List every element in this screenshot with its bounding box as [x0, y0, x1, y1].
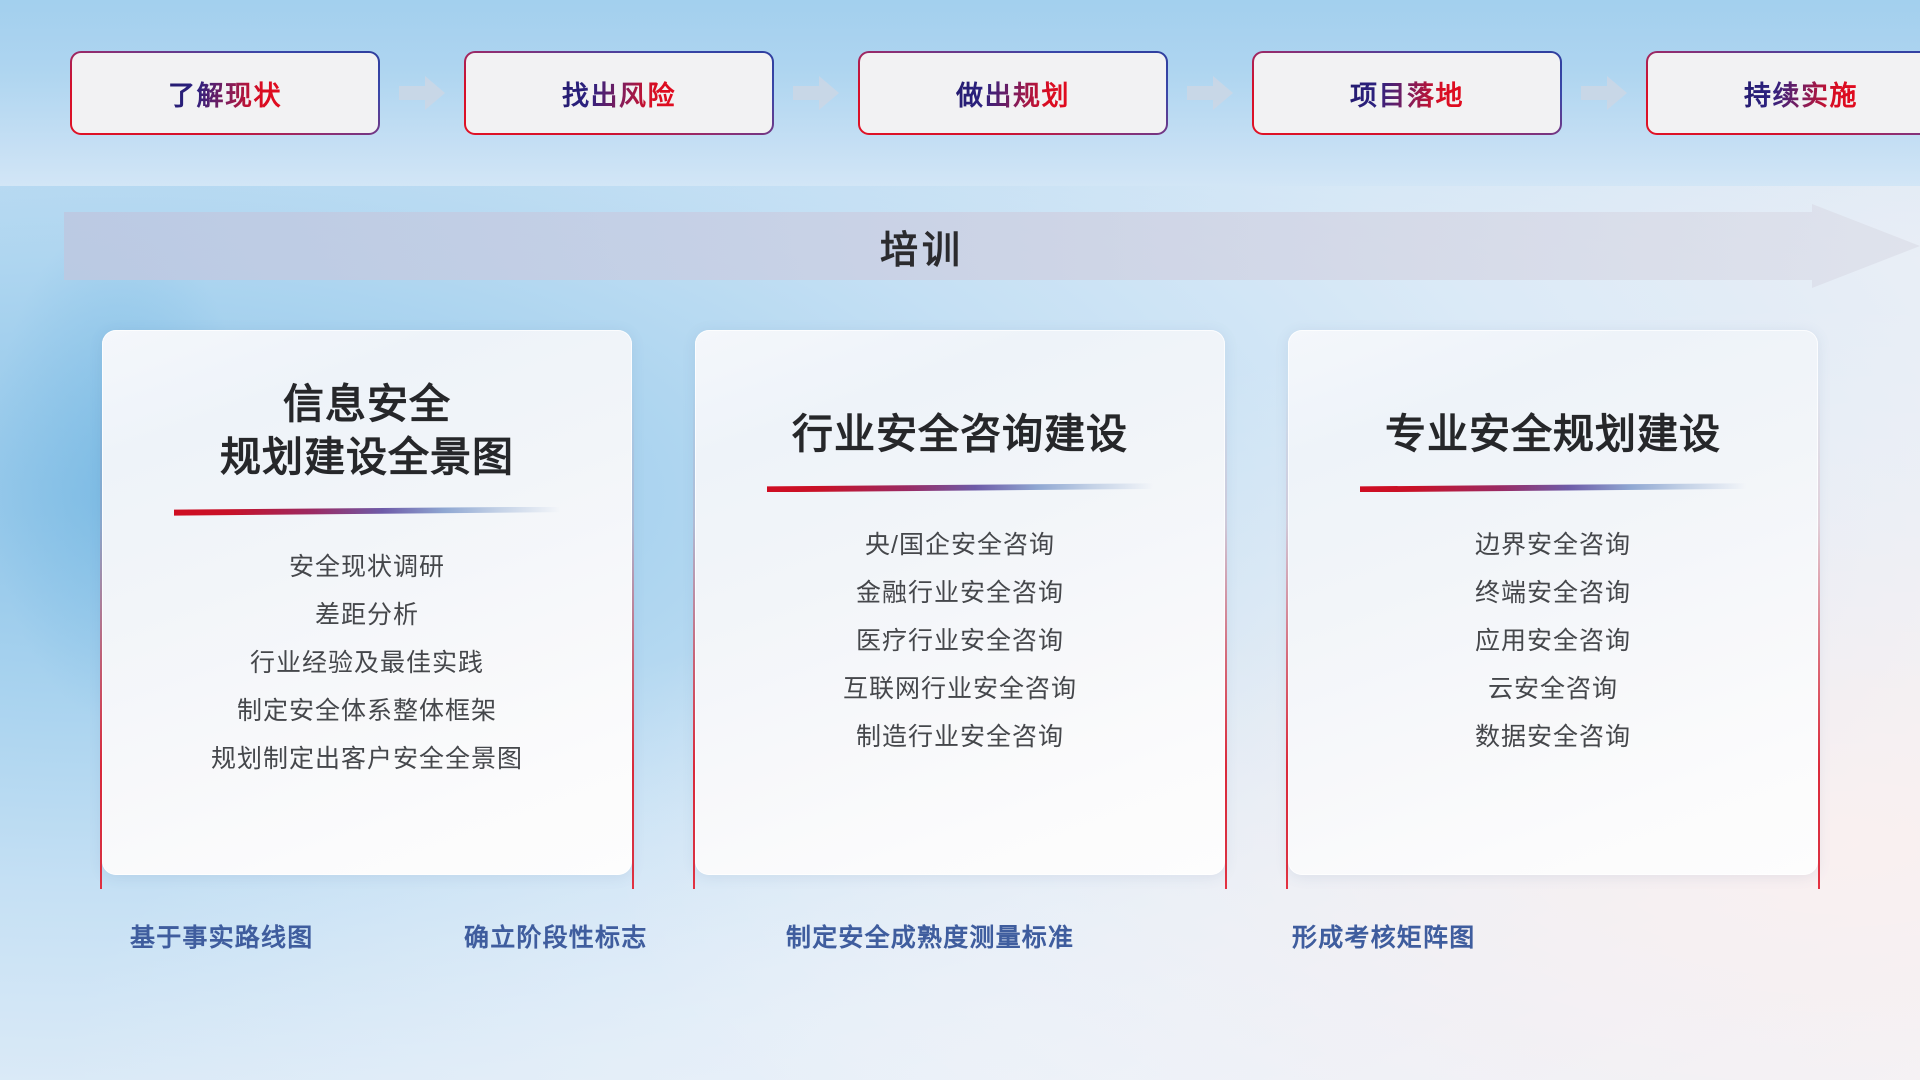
- arrow-right-icon: [1187, 76, 1233, 110]
- process-flow-row: 了解现状 找出风险 做出规划 项目落地 持续实施: [0, 0, 1920, 186]
- caption-0: 基于事实路线图: [130, 918, 313, 954]
- card-item-list: 边界安全咨询 终端安全咨询 应用安全咨询 云安全咨询 数据安全咨询: [1288, 530, 1818, 752]
- flow-step-label: 找出风险: [562, 74, 676, 113]
- training-arrow-band: 培训: [64, 204, 1920, 288]
- flow-step-label: 持续实施: [1744, 74, 1858, 113]
- band-title: 培训: [64, 204, 1920, 288]
- list-item: 差距分析: [315, 600, 419, 630]
- card-title: 信息安全 规划建设全景图: [220, 378, 514, 485]
- flow-step-0[interactable]: 了解现状: [72, 53, 378, 133]
- flow-step-4[interactable]: 持续实施: [1648, 53, 1920, 133]
- flow-step-1[interactable]: 找出风险: [466, 53, 772, 133]
- list-item: 终端安全咨询: [1475, 578, 1631, 608]
- list-item: 应用安全咨询: [1475, 626, 1631, 656]
- card-edge-accent-right: [632, 382, 634, 889]
- flow-step-label: 了解现状: [168, 74, 282, 113]
- arrow-right-icon: [399, 76, 445, 110]
- capability-cards-row: 信息安全 规划建设全景图 安全现状调研 差距分析 行业经验及最佳实践 制定安全体…: [0, 330, 1920, 890]
- card-edge-accent-right: [1818, 382, 1820, 889]
- capability-card-2[interactable]: 专业安全规划建设 边界安全咨询 终端安全咨询 应用安全咨询 云安全咨询 数据安全…: [1288, 330, 1818, 875]
- list-item: 规划制定出客户安全全景图: [211, 744, 523, 774]
- list-item: 云安全咨询: [1488, 674, 1618, 704]
- list-item: 行业经验及最佳实践: [250, 648, 484, 678]
- capability-card-1[interactable]: 行业安全咨询建设 央/国企安全咨询 金融行业安全咨询 医疗行业安全咨询 互联网行…: [695, 330, 1225, 875]
- arrow-right-icon: [1581, 76, 1627, 110]
- list-item: 数据安全咨询: [1475, 722, 1631, 752]
- list-item: 边界安全咨询: [1475, 530, 1631, 560]
- list-item: 医疗行业安全咨询: [856, 626, 1064, 656]
- flow-step-2[interactable]: 做出规划: [860, 53, 1166, 133]
- capability-card-0[interactable]: 信息安全 规划建设全景图 安全现状调研 差距分析 行业经验及最佳实践 制定安全体…: [102, 330, 632, 875]
- card-item-list: 央/国企安全咨询 金融行业安全咨询 医疗行业安全咨询 互联网行业安全咨询 制造行…: [695, 530, 1225, 752]
- list-item: 央/国企安全咨询: [865, 530, 1055, 560]
- flow-step-label: 项目落地: [1350, 74, 1464, 113]
- card-title: 专业安全规划建设: [1385, 408, 1721, 461]
- footer-captions: 基于事实路线图 确立阶段性标志 制定安全成熟度测量标准 形成考核矩阵图: [0, 918, 1920, 978]
- card-divider-rule: [1360, 483, 1746, 492]
- caption-2: 制定安全成熟度测量标准: [786, 918, 1074, 954]
- caption-3: 形成考核矩阵图: [1292, 918, 1475, 954]
- card-edge-accent-right: [1225, 382, 1227, 889]
- caption-1: 确立阶段性标志: [464, 918, 647, 954]
- card-title: 行业安全咨询建设: [792, 408, 1128, 461]
- list-item: 安全现状调研: [289, 552, 445, 582]
- flow-step-label: 做出规划: [956, 74, 1070, 113]
- list-item: 制造行业安全咨询: [856, 722, 1064, 752]
- flow-step-3[interactable]: 项目落地: [1254, 53, 1560, 133]
- list-item: 制定安全体系整体框架: [237, 696, 497, 726]
- card-divider-rule: [174, 507, 560, 516]
- card-item-list: 安全现状调研 差距分析 行业经验及最佳实践 制定安全体系整体框架 规划制定出客户…: [102, 552, 632, 774]
- card-divider-rule: [767, 483, 1153, 492]
- arrow-right-icon: [793, 76, 839, 110]
- list-item: 互联网行业安全咨询: [843, 674, 1077, 704]
- list-item: 金融行业安全咨询: [856, 578, 1064, 608]
